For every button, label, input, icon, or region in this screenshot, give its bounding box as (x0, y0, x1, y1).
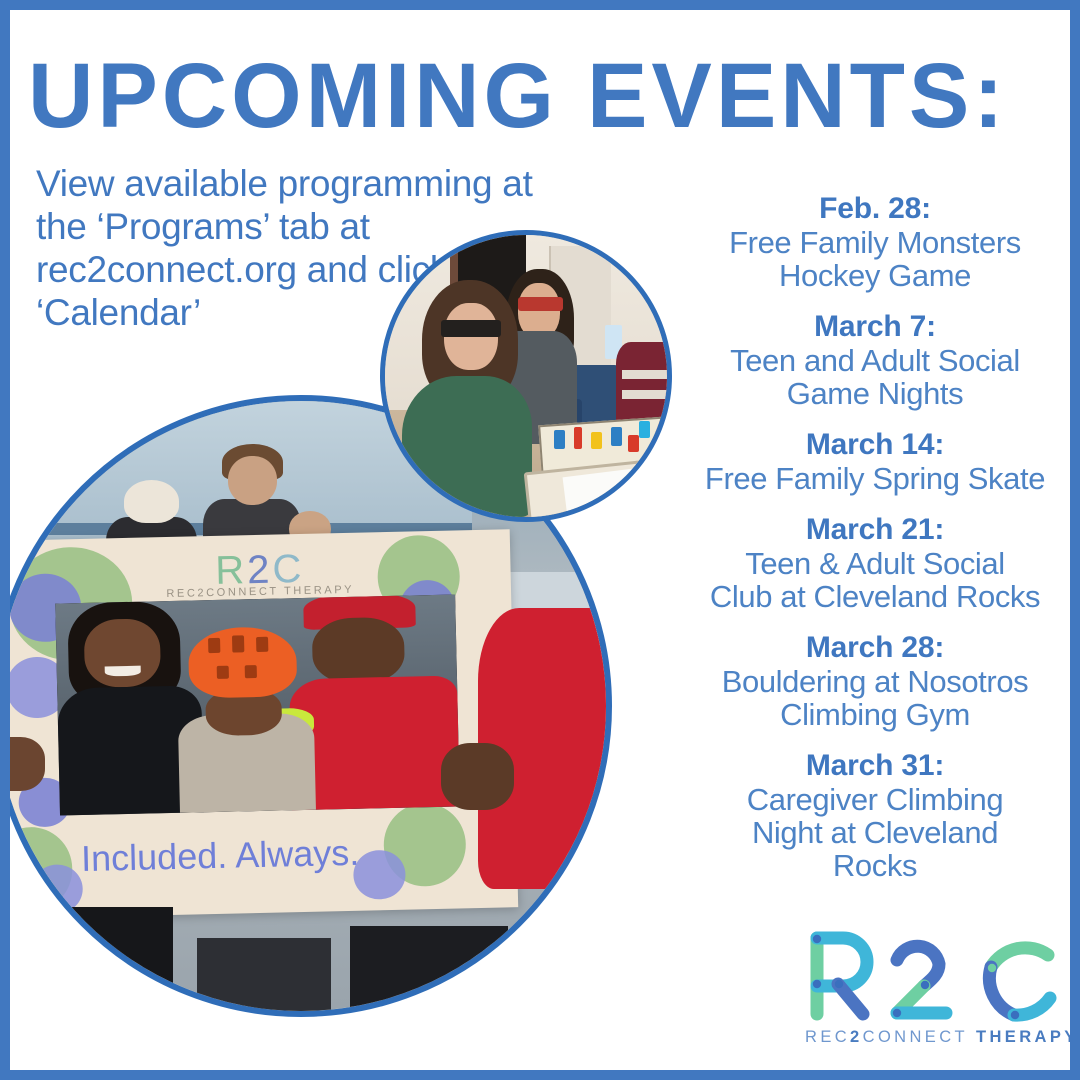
event-item: March 21: Teen & Adult Social Club at Cl… (670, 513, 1070, 613)
event-date: March 31: (670, 749, 1070, 783)
r2c-photo-frame-prop: R2C REC2CONNECT THERAPY (10, 529, 519, 919)
event-date: March 28: (670, 631, 1070, 665)
event-description: Free Family Spring Skate (670, 462, 1070, 495)
event-item: March 14: Free Family Spring Skate (670, 428, 1070, 495)
event-description: Bouldering at Nosotros Climbing Gym (670, 665, 1070, 731)
event-description: Free Family Monsters Hockey Game (670, 226, 1070, 292)
event-description: Caregiver Climbing Night at Cleveland Ro… (670, 783, 1070, 882)
board-game-night-photo (380, 230, 672, 522)
event-description: Teen & Adult Social Club at Cleveland Ro… (670, 547, 1070, 613)
event-date: March 21: (670, 513, 1070, 547)
event-date: Feb. 28: (670, 192, 1070, 226)
logo-sub-connect: CONNECT (863, 1028, 968, 1046)
events-list: Feb. 28: Free Family Monsters Hockey Gam… (670, 192, 1070, 882)
event-item: March 7: Teen and Adult Social Game Nigh… (670, 310, 1070, 410)
photo-scene-small (385, 235, 667, 517)
logo-sub-two: 2 (850, 1028, 863, 1046)
event-date: March 14: (670, 428, 1070, 462)
logo-sub-therapy: THERAPY (976, 1028, 1070, 1046)
event-date: March 7: (670, 310, 1070, 344)
r2c-logo-icon (805, 928, 1067, 1024)
frame-cutout (56, 595, 460, 816)
logo-sub-rec: REC (805, 1028, 850, 1046)
event-item: Feb. 28: Free Family Monsters Hockey Gam… (670, 192, 1070, 292)
r2c-logo-subtitle: REC2CONNECT THERAPY (805, 1028, 1067, 1047)
page-title: UPCOMING EVENTS: (28, 48, 1033, 144)
event-description: Teen and Adult Social Game Nights (670, 344, 1070, 410)
r2c-brand-logo: REC2CONNECT THERAPY (805, 928, 1070, 1058)
event-item: March 31: Caregiver Climbing Night at Cl… (670, 749, 1070, 882)
frame-tagline: Included. Always. (40, 831, 400, 881)
event-item: March 28: Bouldering at Nosotros Climbin… (670, 631, 1070, 731)
poster-canvas: UPCOMING EVENTS: View available programm… (0, 0, 1080, 1080)
poster-inner: UPCOMING EVENTS: View available programm… (10, 10, 1070, 1070)
